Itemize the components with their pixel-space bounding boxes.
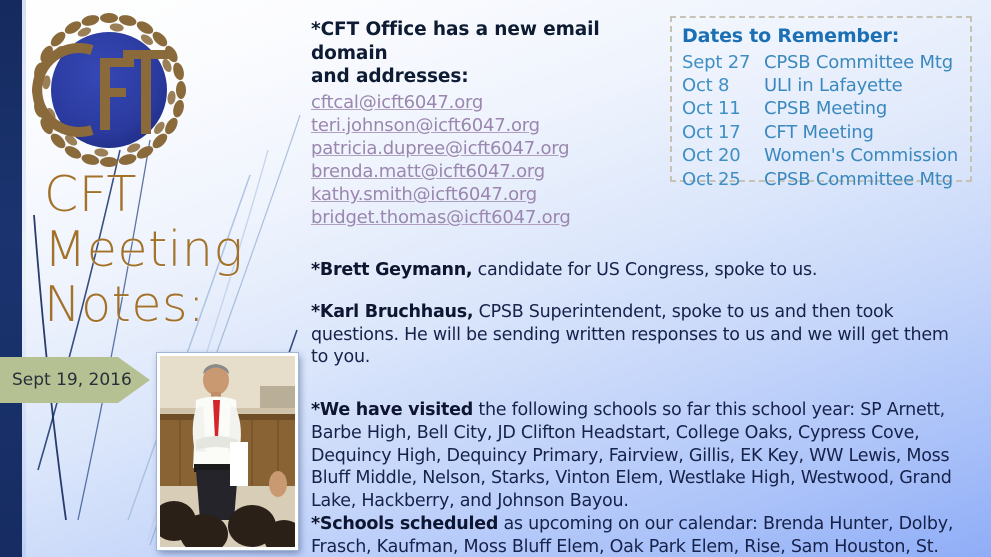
paragraph-schools-scheduled-lead: *Schools scheduled — [311, 514, 498, 534]
date-badge-label: Sept 19, 2016 — [0, 370, 132, 390]
title-line-2: Meeting — [44, 223, 294, 278]
paragraph-karl-bruchhaus: *Karl Bruchhaus, CPSB Superintendent, sp… — [311, 301, 966, 369]
left-navy-bar — [0, 0, 22, 557]
page-title: CFT Meeting Notes: — [44, 168, 294, 333]
paragraph-schools-scheduled: *Schools scheduled as upcoming on our ca… — [311, 513, 966, 557]
speaker-photo — [157, 353, 298, 550]
email-link-brenda-matt[interactable]: brenda.matt@icft6047.org — [311, 160, 971, 183]
paragraph-brett-geymann: *Brett Geymann, candidate for US Congres… — [311, 259, 966, 282]
paragraph-schools-visited-lead: *We have visited — [311, 400, 473, 420]
email-link-kathy-smith[interactable]: kathy.smith@icft6047.org — [311, 183, 971, 206]
email-link-cftcal[interactable]: cftcal@icft6047.org — [311, 91, 971, 114]
email-address-list: cftcal@icft6047.org teri.johnson@icft604… — [311, 91, 971, 229]
date-badge: Sept 19, 2016 — [0, 357, 150, 403]
paragraph-brett-geymann-lead: *Brett Geymann, — [311, 260, 472, 280]
email-link-bridget-thomas[interactable]: bridget.thomas@icft6047.org — [311, 206, 971, 229]
email-link-teri-johnson[interactable]: teri.johnson@icft6047.org — [311, 114, 971, 137]
email-heading-line-2: and addresses: — [311, 65, 656, 89]
title-line-3: Notes: — [44, 278, 294, 333]
paragraph-brett-geymann-body: candidate for US Congress, spoke to us. — [472, 260, 817, 280]
slide-canvas: CFT Meeting Notes: Sept 19, 2016 — [0, 0, 991, 557]
paragraph-schools-visited: *We have visited the following schools s… — [311, 399, 966, 513]
slide-body-content: *CFT Office has a new email domain and a… — [311, 18, 971, 557]
title-line-1: CFT — [44, 168, 294, 223]
paragraph-karl-bruchhaus-lead: *Karl Bruchhaus, — [311, 302, 473, 322]
email-link-patricia-dupree[interactable]: patricia.dupree@icft6047.org — [311, 137, 971, 160]
cft-laurel-wreath-logo — [24, 6, 194, 174]
email-heading-line-1: *CFT Office has a new email domain — [311, 18, 656, 65]
email-announcement-heading: *CFT Office has a new email domain and a… — [311, 18, 656, 89]
